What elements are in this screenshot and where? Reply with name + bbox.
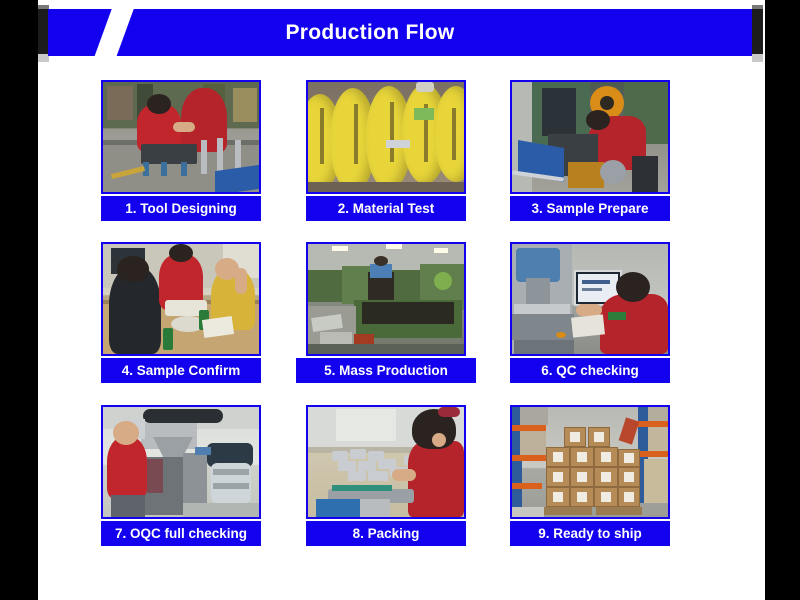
step-photo-packing [306,405,466,519]
step-photo-ready-to-ship [510,405,670,519]
binder-cap-bottom-right [752,54,763,62]
step-card-8[interactable]: 8. Packing [306,405,466,546]
page-title: Production Flow [48,9,752,56]
step-photo-mass-production [306,242,466,356]
slide-page: Production Flow [0,0,800,600]
step-label-5: 5. Mass Production [296,358,476,383]
step-photo-qc-checking [510,242,670,356]
production-flow-grid: 1. Tool Designing 2. Material [48,80,752,580]
step-label-7: 7. OQC full checking [101,521,261,546]
step-photo-material-test [306,80,466,194]
step-label-8: 8. Packing [306,521,466,546]
step-label-3: 3. Sample Prepare [510,196,670,221]
step-photo-sample-confirm [101,242,261,356]
step-label-6: 6. QC checking [510,358,670,383]
step-card-3[interactable]: 3. Sample Prepare [510,80,670,221]
step-label-9: 9. Ready to ship [510,521,670,546]
step-card-9[interactable]: 9. Ready to ship [510,405,670,546]
step-card-5[interactable]: 5. Mass Production [306,242,466,383]
step-photo-sample-prepare [510,80,670,194]
step-card-2[interactable]: 2. Material Test [306,80,466,221]
step-photo-oqc-full-checking [101,405,261,519]
header-banner: Production Flow [48,9,752,56]
step-card-7[interactable]: 7. OQC full checking [101,405,261,546]
binder-strip-right [752,9,763,56]
step-card-4[interactable]: 4. Sample Confirm [101,242,261,383]
step-photo-tool-designing [101,80,261,194]
step-label-1: 1. Tool Designing [101,196,261,221]
step-label-2: 2. Material Test [306,196,466,221]
step-card-1[interactable]: 1. Tool Designing [101,80,261,221]
step-label-4: 4. Sample Confirm [101,358,261,383]
step-card-6[interactable]: 6. QC checking [510,242,670,383]
